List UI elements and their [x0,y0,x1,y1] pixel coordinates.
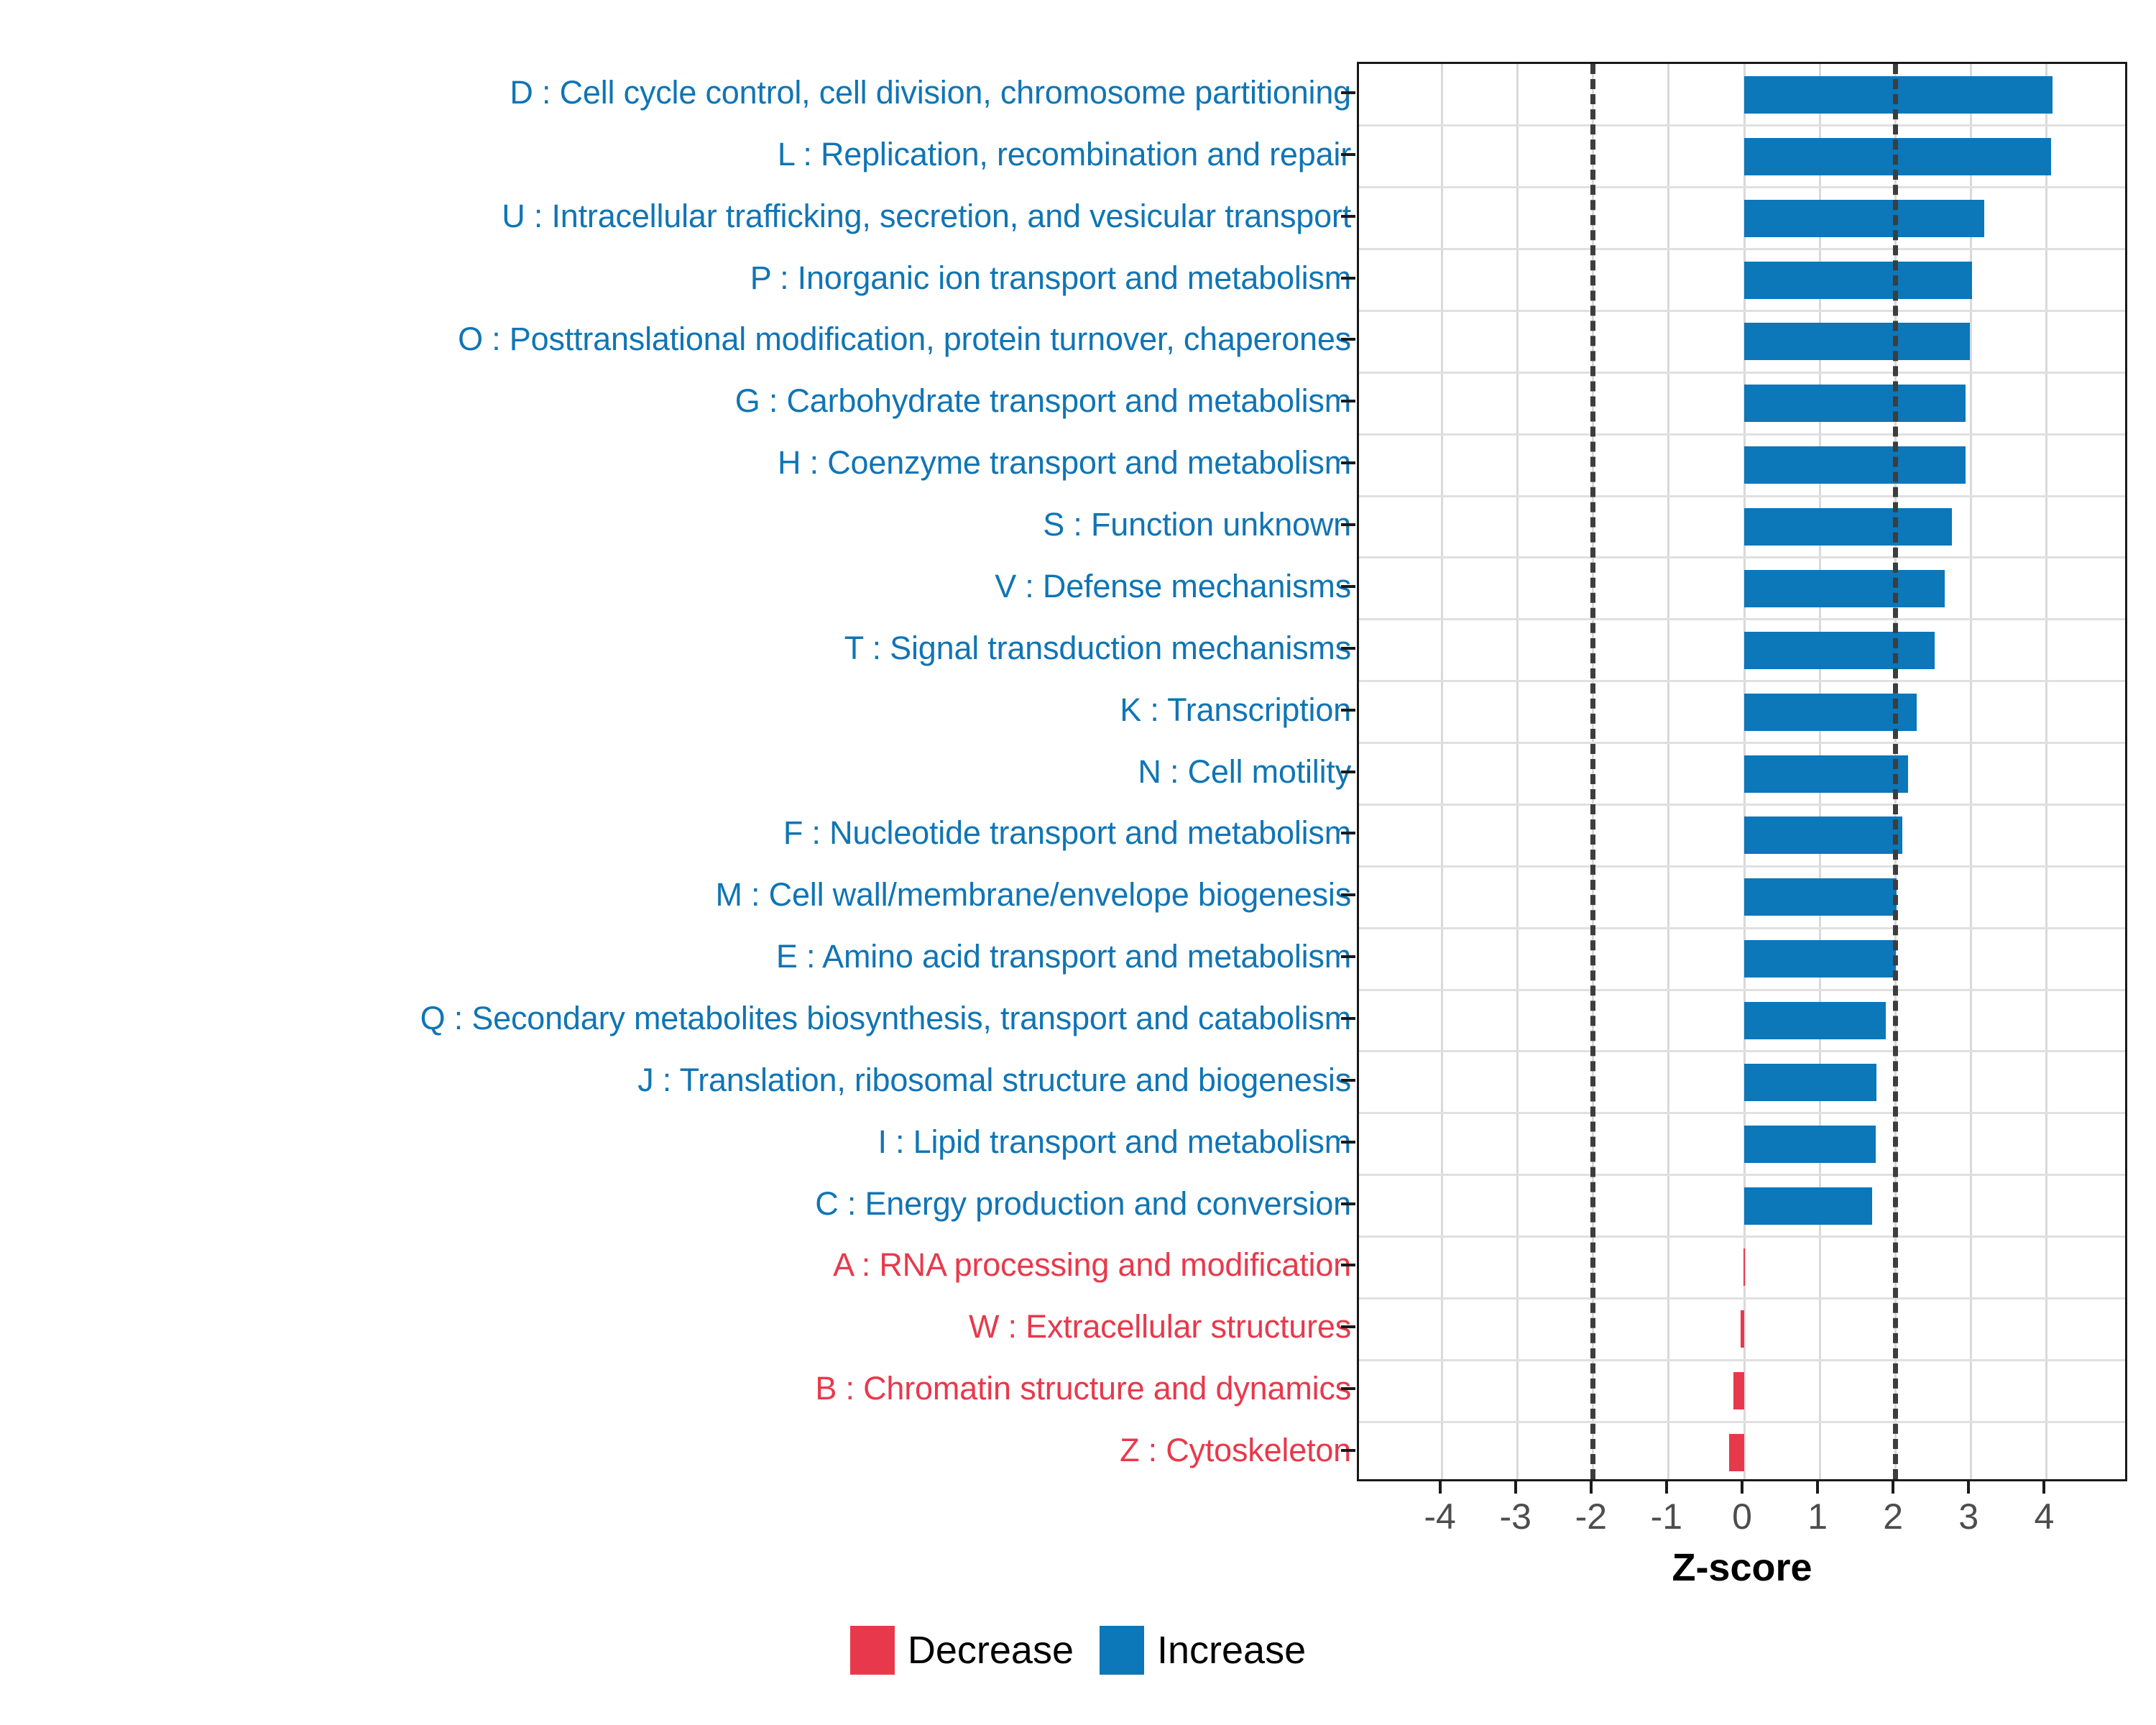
y-gridline [1359,1112,2125,1114]
y-gridline [1359,680,2125,682]
y-axis-label: U : Intracellular trafficking, secretion… [0,200,1351,232]
x-gridline [1516,64,1519,1479]
reference-line [1893,64,1898,1479]
y-axis-labels: D : Cell cycle control, cell division, c… [0,62,1351,1478]
plot-panel [1357,62,2127,1481]
chart-figure: D : Cell cycle control, cell division, c… [0,0,2156,1725]
y-tick-mark [1341,91,1355,94]
x-tick-mark [1590,1481,1593,1494]
y-gridline [1359,865,2125,868]
bar [1743,1248,1745,1286]
y-tick-mark [1341,215,1355,218]
y-tick-mark [1341,338,1355,341]
y-axis-label: N : Cell motility [0,755,1351,788]
y-tick-mark [1341,1017,1355,1020]
y-tick-mark [1341,523,1355,526]
y-gridline [1359,927,2125,929]
x-tick-mark [2042,1481,2045,1494]
legend-swatch-increase [1100,1626,1144,1675]
x-gridline [1441,64,1443,1479]
y-gridline [1359,248,2125,250]
y-axis-label: F : Nucleotide transport and metabolism [0,816,1351,849]
y-tick-mark [1341,647,1355,650]
bar [1744,1002,1886,1039]
y-tick-mark [1341,1449,1355,1452]
y-tick-mark [1341,770,1355,773]
bar [1744,76,2053,114]
y-tick-mark [1341,1141,1355,1144]
x-tick-mark [1816,1481,1819,1494]
y-axis-label: V : Defense mechanisms [0,570,1351,602]
y-axis-label: B : Chromatin structure and dynamics [0,1372,1351,1404]
y-tick-mark [1341,153,1355,156]
y-tick-mark [1341,832,1355,834]
bar [1729,1434,1744,1471]
y-tick-mark [1341,461,1355,464]
bar [1744,262,1972,299]
y-tick-mark [1341,1079,1355,1082]
x-tick-label: -3 [1487,1496,1544,1537]
x-tick-mark [1514,1481,1517,1494]
y-gridline [1359,433,2125,436]
x-tick-mark [1892,1481,1894,1494]
y-gridline [1359,618,2125,620]
chart-legend: DecreaseIncrease [0,1626,2156,1675]
y-axis-label: Z : Cytoskeleton [0,1434,1351,1466]
x-axis-title: Z-score [1357,1545,2127,1590]
reference-line [1590,64,1595,1479]
y-tick-mark [1341,709,1355,712]
y-axis-label: S : Function unknown [0,508,1351,540]
bar [1744,816,1902,854]
y-gridline [1359,124,2125,126]
bar [1744,1126,1876,1163]
y-gridline [1359,989,2125,991]
bar [1744,446,1966,484]
y-axis-label: A : RNA processing and modification [0,1248,1351,1281]
y-axis-label: I : Lipid transport and metabolism [0,1126,1351,1158]
y-axis-label: D : Cell cycle control, cell division, c… [0,76,1351,109]
y-axis-label: M : Cell wall/membrane/envelope biogenes… [0,878,1351,911]
y-axis-label: P : Inorganic ion transport and metaboli… [0,262,1351,294]
bar [1744,508,1952,546]
y-axis-label: O : Posttranslational modification, prot… [0,323,1351,355]
bar [1741,1310,1744,1348]
y-axis-label: W : Extracellular structures [0,1310,1351,1343]
y-gridline [1359,1359,2125,1361]
y-axis-label: L : Replication, recombination and repai… [0,138,1351,170]
bar [1744,755,1908,793]
y-gridline [1359,495,2125,497]
bar [1744,632,1935,669]
bar [1744,323,1970,360]
bar [1744,1064,1876,1101]
y-tick-mark [1341,585,1355,588]
x-tick-mark [1741,1481,1743,1494]
y-tick-mark [1341,1202,1355,1205]
y-gridline [1359,742,2125,744]
y-axis-label: C : Energy production and conversion [0,1187,1351,1220]
y-gridline [1359,1174,2125,1176]
x-tick-label: 3 [1940,1496,1997,1537]
x-tick-mark [1967,1481,1970,1494]
legend-swatch-decrease [850,1626,895,1675]
bar [1744,570,1945,607]
x-tick-label: 2 [1864,1496,1922,1537]
bar [1744,1187,1872,1225]
x-tick-label: -2 [1562,1496,1620,1537]
y-tick-mark [1341,400,1355,402]
y-gridline [1359,372,2125,374]
y-axis-label: J : Translation, ribosomal structure and… [0,1064,1351,1096]
y-tick-mark [1341,277,1355,280]
y-axis-label: Q : Secondary metabolites biosynthesis, … [0,1002,1351,1034]
y-gridline [1359,310,2125,312]
y-gridline [1359,186,2125,188]
y-axis-label: T : Signal transduction mechanisms [0,632,1351,664]
bar [1744,385,1966,422]
legend-label: Decrease [908,1628,1074,1673]
y-axis-label: H : Coenzyme transport and metabolism [0,446,1351,479]
y-gridline [1359,1236,2125,1238]
x-tick-mark [1665,1481,1668,1494]
y-gridline [1359,1050,2125,1052]
x-tick-label: 1 [1789,1496,1846,1537]
y-axis-label: G : Carbohydrate transport and metabolis… [0,385,1351,417]
bar [1744,200,1984,237]
y-tick-mark [1341,893,1355,896]
legend-item: Decrease [850,1626,1074,1675]
legend-label: Increase [1157,1628,1306,1673]
x-tick-mark [1439,1481,1442,1494]
x-tick-label: -1 [1638,1496,1695,1537]
y-gridline [1359,804,2125,806]
x-tick-label: 4 [2015,1496,2073,1537]
y-gridline [1359,1297,2125,1299]
legend-item: Increase [1100,1626,1306,1675]
y-tick-mark [1341,1325,1355,1328]
bar [1744,940,1896,977]
y-axis-label: K : Transcription [0,694,1351,726]
x-gridline [2045,64,2047,1479]
bar [1744,694,1917,731]
y-gridline [1359,1421,2125,1423]
x-gridline [1667,64,1669,1479]
y-tick-mark [1341,1387,1355,1390]
y-tick-mark [1341,1264,1355,1266]
y-gridline [1359,556,2125,558]
y-tick-mark [1341,955,1355,958]
bar [1733,1372,1744,1409]
y-axis-label: E : Amino acid transport and metabolism [0,940,1351,972]
bar [1744,878,1897,916]
x-tick-label: 0 [1713,1496,1771,1537]
x-tick-label: -4 [1411,1496,1469,1537]
